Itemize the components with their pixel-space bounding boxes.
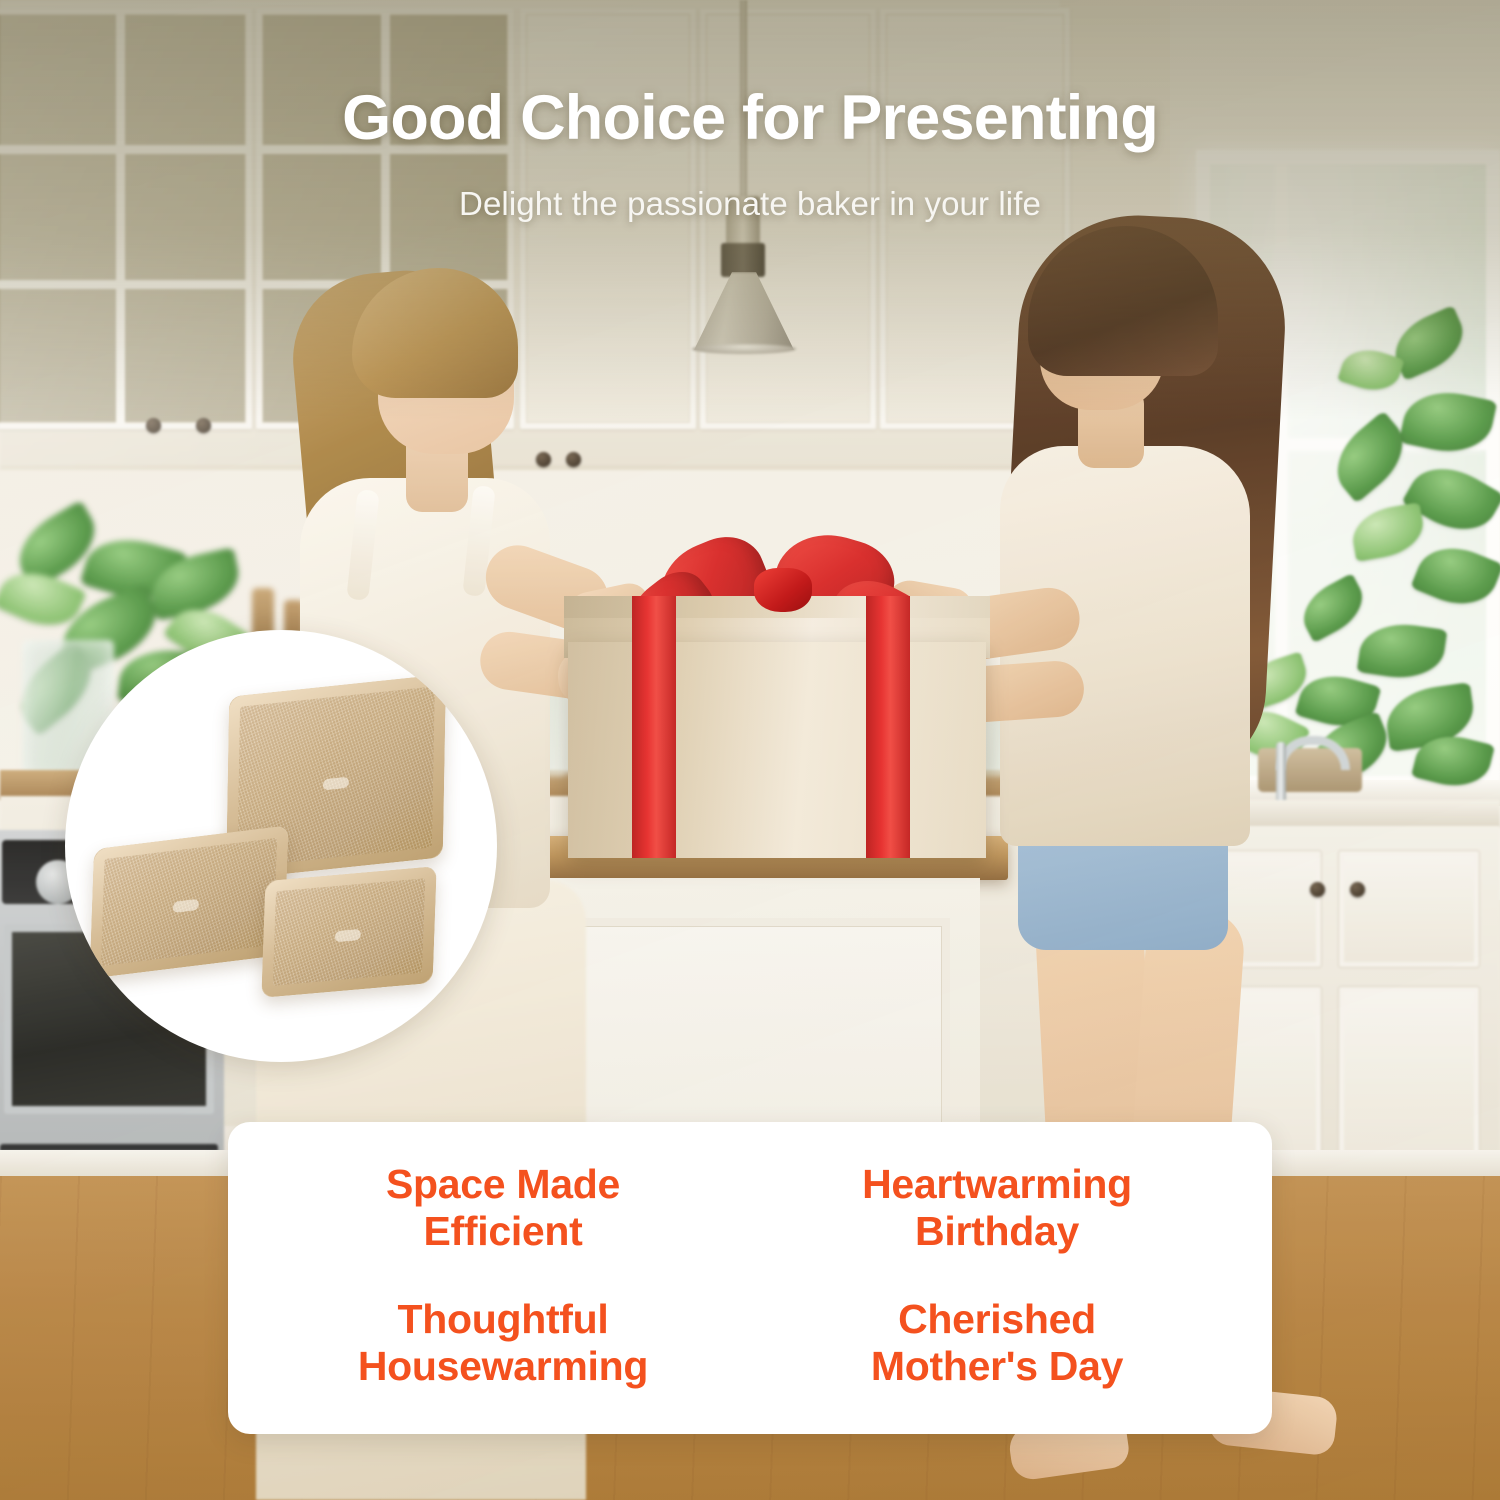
ribbon-bow-knot [754,568,812,612]
page-subtitle: Delight the passionate baker in your lif… [0,185,1500,223]
benefit-cherished-mothers-day: Cherished Mother's Day [871,1296,1123,1389]
benefit-line-2: Mother's Day [871,1343,1123,1389]
cabinet-knob [1310,882,1325,897]
benefit-line-2: Housewarming [358,1343,648,1389]
cabinet-knob [146,418,161,433]
gift-box-body [568,642,986,858]
product-marketing-image: Good Choice for Presenting Delight the p… [0,0,1500,1500]
cabinet-panel [1338,850,1480,968]
pendant-lamp-collar [721,243,765,277]
page-title: Good Choice for Presenting [0,82,1500,154]
cabinet-knob [566,452,581,467]
baking-sheet-small [261,866,436,998]
upper-cabinets [0,0,1060,470]
cabinet-knob [536,452,551,467]
benefit-line-1: Space Made [386,1161,620,1207]
benefit-line-1: Cherished [898,1296,1096,1342]
benefit-space-made-efficient: Space Made Efficient [386,1161,620,1254]
benefit-line-2: Birthday [915,1208,1079,1254]
gift-ribbon [632,596,676,858]
benefit-line-2: Efficient [423,1208,582,1254]
product-inset-circle[interactable] [65,630,497,1062]
benefits-panel: Space Made Efficient Heartwarming Birthd… [228,1122,1272,1434]
gift-box [568,558,986,858]
benefit-thoughtful-housewarming: Thoughtful Housewarming [358,1296,648,1389]
cabinet-panel [1338,986,1480,1166]
cabinet-knob [196,418,211,433]
gift-ribbon [866,596,910,858]
cabinet-knob [1350,882,1365,897]
benefit-line-1: Heartwarming [862,1161,1132,1207]
pendant-lamp-lip [692,344,796,354]
sink-faucet-stem [1276,742,1286,804]
baking-sheet-medium [89,825,288,978]
benefit-heartwarming-birthday: Heartwarming Birthday [862,1161,1132,1254]
benefit-line-1: Thoughtful [397,1296,608,1342]
